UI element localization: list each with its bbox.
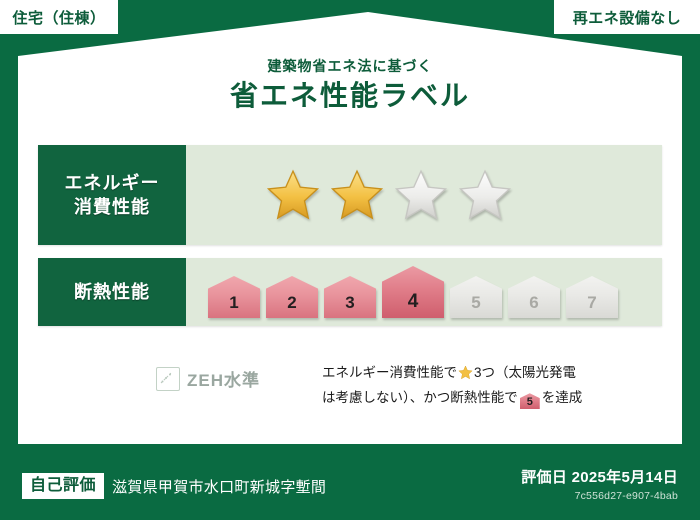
insulation-grade-value: 4 (408, 292, 419, 314)
self-evaluation-badge: 自己評価 (22, 473, 104, 499)
description-part2: は考慮しない）、かつ断熱性能で (322, 390, 518, 405)
inline-insulation-badge: 5 (520, 393, 540, 409)
star-filled-icon (330, 168, 384, 222)
description-part3: を達成 (542, 390, 583, 405)
label-identifier: 7c556d27-e907-4bab (521, 490, 678, 503)
insulation-grade-value: 6 (529, 294, 538, 314)
zeh-description-block: ZEH水準 エネルギー消費性能で 3つ（太陽光発電 は考慮しない）、かつ断熱性能… (38, 360, 662, 420)
star-filled-icon (266, 168, 320, 222)
zeh-standard-mark: ZEH水準 (156, 360, 316, 391)
footer-left-group: 自己評価 滋賀県甲賀市水口町新城字塹間 (22, 473, 326, 499)
tab-renewable-status-label: 再エネ設備なし (573, 7, 682, 28)
star-empty-icon (394, 168, 448, 222)
evaluation-date-line: 評価日 2025年5月14日 (521, 469, 678, 487)
insulation-grade-value: 5 (471, 294, 480, 314)
energy-performance-row: エネルギー 消費性能 (38, 145, 662, 245)
energy-performance-row-body (186, 145, 662, 245)
title-subtitle: 建築物省エネ法に基づく (0, 58, 700, 75)
insulation-grade-value: 1 (229, 294, 238, 314)
inline-star-icon (458, 365, 473, 387)
zeh-mark-icon (156, 367, 180, 391)
insulation-performance-row-label: 断熱性能 (38, 258, 186, 326)
label-title-block: 建築物省エネ法に基づく 省エネ性能ラベル (0, 58, 700, 112)
tab-renewable-status: 再エネ設備なし (554, 0, 700, 34)
description-star-count: 3つ（太陽光発電 (474, 365, 576, 380)
label-footer: 自己評価 滋賀県甲賀市水口町新城字塹間 評価日 2025年5月14日 7c556… (0, 452, 700, 520)
description-part1: エネルギー消費性能で (322, 365, 457, 380)
insulation-grade-value: 3 (345, 294, 354, 314)
achievement-description: エネルギー消費性能で 3つ（太陽光発電 は考慮しない）、かつ断熱性能で 5を達成 (322, 360, 662, 410)
energy-performance-label: 住宅（住棟） 再エネ設備なし 建築物省エネ法に基づく 省エネ性能ラベル エネルギ… (0, 0, 700, 520)
insulation-grade-badge: 1 (208, 276, 260, 318)
insulation-grade-value: 2 (287, 294, 296, 314)
energy-label-line2: 消費性能 (74, 197, 150, 217)
evaluation-date-label: 評価日 (521, 469, 567, 486)
insulation-grade-badge: 2 (266, 276, 318, 318)
insulation-performance-row-body: 1234567 (186, 258, 662, 326)
energy-label-line1: エネルギー (65, 173, 160, 193)
insulation-grade-scale: 1234567 (208, 266, 618, 318)
evaluation-date-value: 2025年5月14日 (572, 469, 678, 486)
zeh-standard-label: ZEH水準 (187, 366, 260, 391)
insulation-grade-badge: 6 (508, 276, 560, 318)
star-empty-icon (458, 168, 512, 222)
star-rating (266, 168, 512, 222)
footer-right-group: 評価日 2025年5月14日 7c556d27-e907-4bab (521, 469, 678, 503)
insulation-grade-badge: 7 (566, 276, 618, 318)
insulation-grade-badge: 4 (382, 266, 444, 318)
inline-insulation-badge-value: 5 (527, 396, 533, 408)
tab-building-type-label: 住宅（住棟） (12, 7, 105, 28)
insulation-grade-badge: 3 (324, 276, 376, 318)
insulation-performance-row: 断熱性能 1234567 (38, 258, 662, 326)
page-title: 省エネ性能ラベル (0, 80, 700, 112)
property-address: 滋賀県甲賀市水口町新城字塹間 (112, 476, 326, 497)
tab-building-type: 住宅（住棟） (0, 0, 118, 34)
insulation-grade-badge: 5 (450, 276, 502, 318)
energy-performance-row-label: エネルギー 消費性能 (38, 145, 186, 245)
insulation-grade-value: 7 (587, 294, 596, 314)
